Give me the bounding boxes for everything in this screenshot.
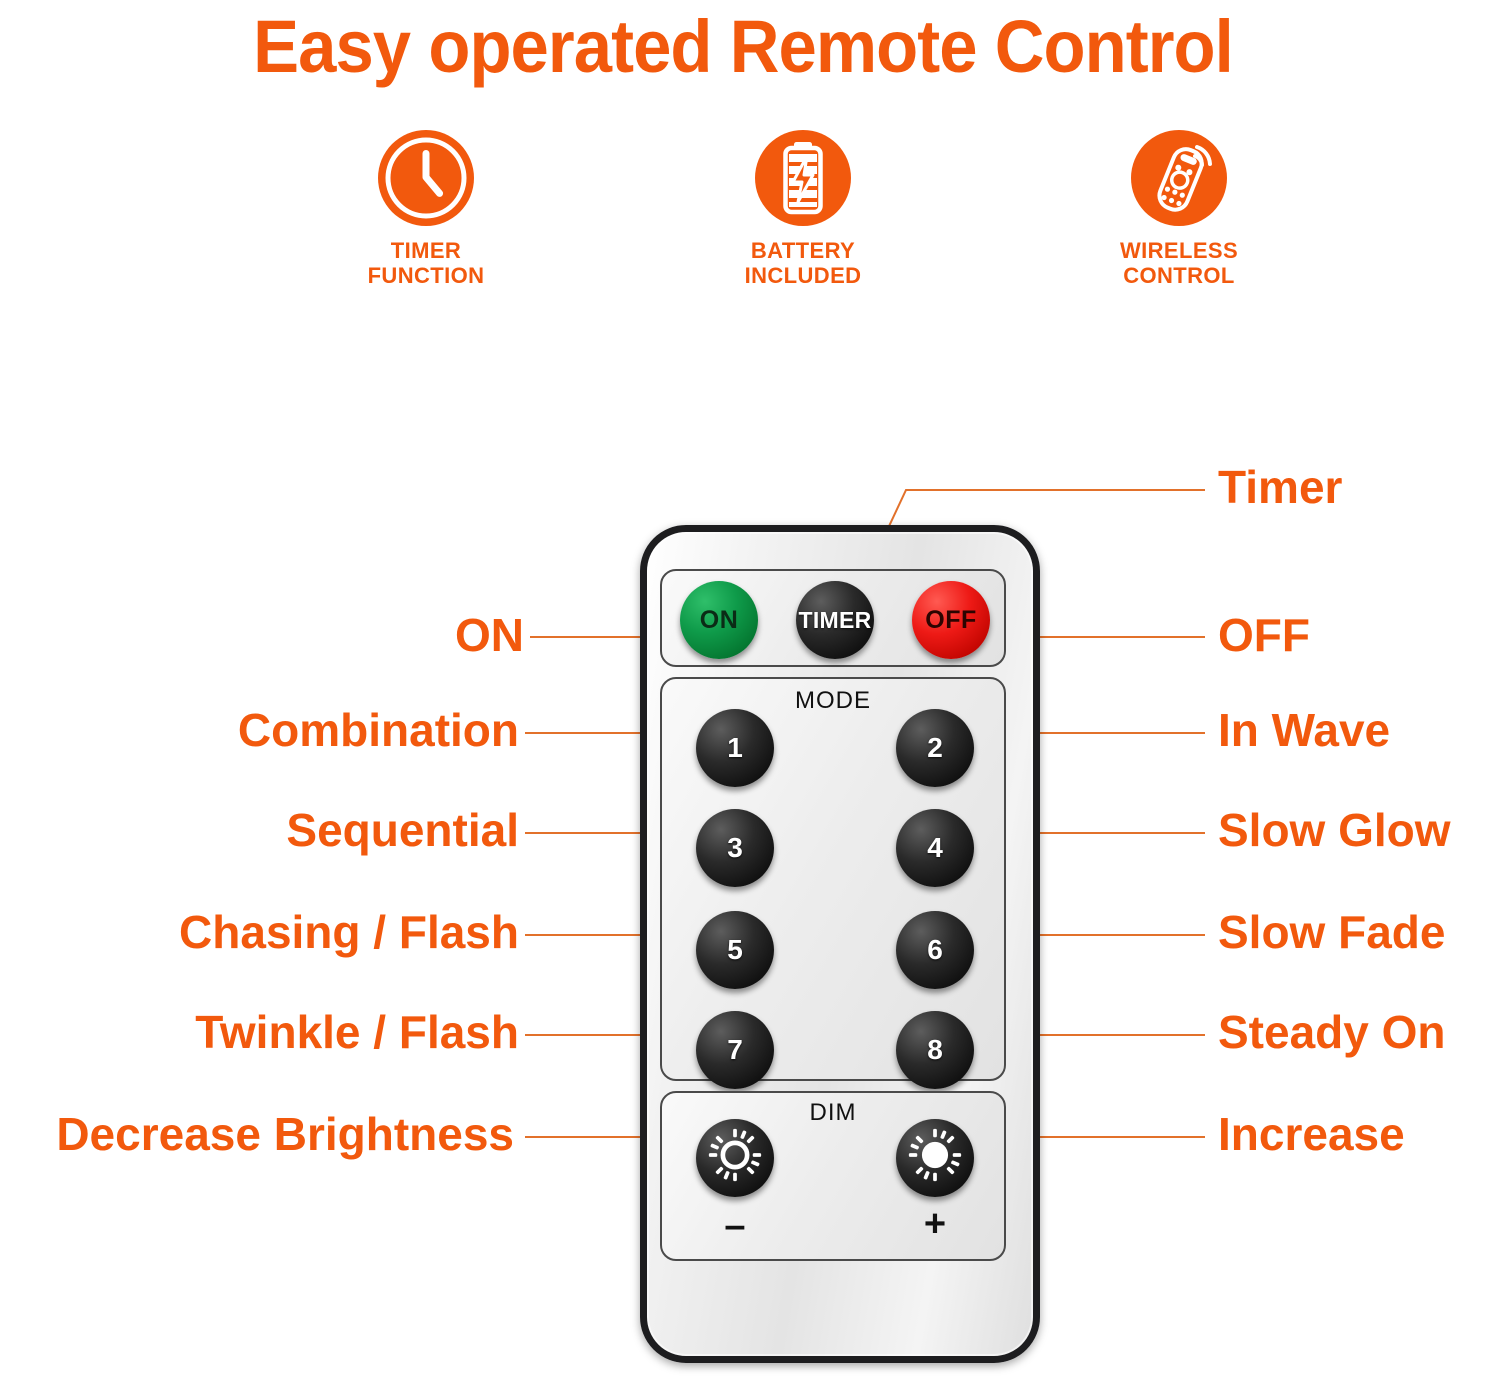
increase-brightness-button[interactable] bbox=[896, 1119, 974, 1197]
mode-button-2[interactable]: 2 bbox=[896, 709, 974, 787]
feature-label: TIMER FUNCTION bbox=[286, 238, 566, 288]
mode-button-label: 5 bbox=[727, 934, 743, 966]
callout-sequential: Sequential bbox=[286, 803, 519, 857]
mode-button-6[interactable]: 6 bbox=[896, 911, 974, 989]
feature-label: WIRELESS CONTROL bbox=[1039, 238, 1319, 288]
timer-button-label: TIMER bbox=[798, 607, 871, 634]
mode-button-label: 8 bbox=[927, 1034, 943, 1066]
callout-off: OFF bbox=[1218, 608, 1310, 662]
mode-button-5[interactable]: 5 bbox=[696, 911, 774, 989]
dim-minus-label: – bbox=[690, 1205, 780, 1248]
mode-panel-title: MODE bbox=[662, 687, 1004, 715]
callout-slow-glow: Slow Glow bbox=[1218, 803, 1451, 857]
callout-in-wave: In Wave bbox=[1218, 703, 1390, 757]
off-button[interactable]: OFF bbox=[912, 581, 990, 659]
callout-decrease-brightness: Decrease Brightness bbox=[56, 1107, 514, 1161]
callout-twinkle-flash: Twinkle / Flash bbox=[195, 1005, 519, 1059]
mode-button-label: 6 bbox=[927, 934, 943, 966]
callout-timer: Timer bbox=[1218, 460, 1342, 514]
mode-button-7[interactable]: 7 bbox=[696, 1011, 774, 1089]
callout-on: ON bbox=[455, 608, 524, 662]
callout-increase: Increase bbox=[1218, 1107, 1405, 1161]
on-button-label: ON bbox=[700, 606, 739, 635]
feature-battery-included: BATTERY INCLUDED bbox=[663, 128, 943, 288]
sun-dim-icon bbox=[707, 1127, 763, 1190]
dim-plus-label: + bbox=[890, 1203, 980, 1246]
off-button-label: OFF bbox=[925, 606, 977, 635]
feature-badges: TIMER FUNCTION BATTERY INCLUDED bbox=[0, 128, 1486, 328]
feature-wireless-control: WIRELESS CONTROL bbox=[1039, 128, 1319, 288]
callout-combination: Combination bbox=[238, 703, 519, 757]
mode-button-label: 4 bbox=[927, 832, 943, 864]
page-title: Easy operated Remote Control bbox=[52, 0, 1434, 92]
sun-bright-icon bbox=[907, 1127, 963, 1190]
mode-button-label: 1 bbox=[727, 732, 743, 764]
mode-button-label: 7 bbox=[727, 1034, 743, 1066]
feature-label: BATTERY INCLUDED bbox=[663, 238, 943, 288]
clock-icon bbox=[376, 128, 476, 228]
mode-button-4[interactable]: 4 bbox=[896, 809, 974, 887]
decrease-brightness-button[interactable] bbox=[696, 1119, 774, 1197]
mode-button-3[interactable]: 3 bbox=[696, 809, 774, 887]
remote-signal-icon bbox=[1129, 128, 1229, 228]
mode-button-8[interactable]: 8 bbox=[896, 1011, 974, 1089]
remote-control-device: ON TIMER OFF MODE 1 2 3 4 5 6 7 8 DIM bbox=[640, 525, 1040, 1363]
callout-slow-fade: Slow Fade bbox=[1218, 905, 1445, 959]
dim-panel: DIM bbox=[660, 1091, 1006, 1261]
power-panel: ON TIMER OFF bbox=[660, 569, 1006, 667]
mode-button-label: 2 bbox=[927, 732, 943, 764]
on-button[interactable]: ON bbox=[680, 581, 758, 659]
timer-button[interactable]: TIMER bbox=[796, 581, 874, 659]
callout-steady-on: Steady On bbox=[1218, 1005, 1446, 1059]
feature-timer-function: TIMER FUNCTION bbox=[286, 128, 566, 288]
callout-chasing-flash: Chasing / Flash bbox=[179, 905, 519, 959]
mode-button-1[interactable]: 1 bbox=[696, 709, 774, 787]
mode-panel: MODE 1 2 3 4 5 6 7 8 bbox=[660, 677, 1006, 1081]
mode-button-label: 3 bbox=[727, 832, 743, 864]
battery-icon bbox=[753, 128, 853, 228]
